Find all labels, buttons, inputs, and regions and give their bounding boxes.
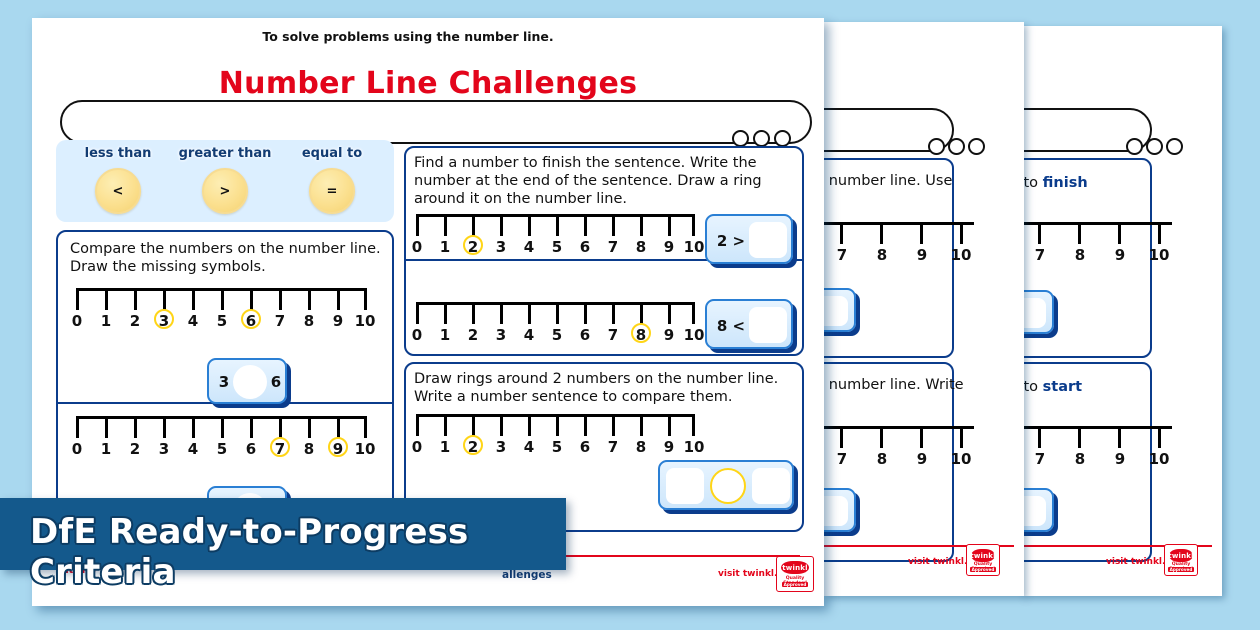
key-item-equal-to: equal to =: [276, 146, 388, 214]
answer-slot[interactable]: [749, 222, 787, 258]
twinkl-logo: twinkl Quality Standard Approved: [776, 556, 814, 592]
key-symbol-equal-to: =: [309, 168, 355, 214]
binder-ring-icon: [928, 138, 945, 155]
page-2-answer-1[interactable]: [824, 288, 856, 332]
answer-right-value: 6: [267, 373, 285, 391]
page-2-answer-2[interactable]: [824, 488, 856, 532]
binder-ring-icon: [774, 130, 791, 147]
right-answer-1[interactable]: 2 >: [705, 214, 793, 264]
page-2-question-1a: he number line. Use: [824, 172, 952, 190]
left-card-question: Compare the numbers on the number line. …: [70, 240, 386, 276]
answer-left-value: 3: [215, 373, 233, 391]
key-label-equal-to: equal to: [276, 146, 388, 161]
answer-slot-right[interactable]: [752, 468, 790, 504]
binder-ring-icon: [948, 138, 965, 155]
objective-text: To solve problems using the number line.: [32, 29, 784, 44]
right-answer-3[interactable]: [658, 460, 794, 510]
binder-ring-icon: [968, 138, 985, 155]
binder-ring-icon: [1166, 138, 1183, 155]
right-card-1-question: Find a number to finish the sentence. Wr…: [414, 154, 796, 208]
page-3-content: er to finish 7 8 9 10 er to start: [1022, 26, 1222, 596]
page-2-question-2: he number line. Write: [824, 376, 964, 394]
objective-bar: [60, 100, 812, 144]
right-answer-2[interactable]: 8 <: [705, 299, 793, 349]
page-2-content: he number line. Use s. 7 8 9 10 he numbe…: [824, 22, 1024, 596]
twinkl-logo: twinkl Quality Standard Approved: [966, 544, 1000, 576]
answer-slot[interactable]: [233, 365, 267, 399]
page-3-answer-2[interactable]: [1022, 488, 1054, 532]
binder-ring-icon: [1146, 138, 1163, 155]
binder-ring-icon: [732, 130, 749, 147]
dfe-banner-text: DfE Ready-to-Progress Criteria: [30, 512, 566, 592]
answer-slot[interactable]: [749, 307, 787, 343]
answer-prompt: 2 >: [713, 232, 749, 250]
left-answer-1[interactable]: 3 6: [207, 358, 287, 404]
dfe-banner: DfE Ready-to-Progress Criteria: [0, 498, 566, 570]
right-card-2-question: Draw rings around 2 numbers on the numbe…: [414, 370, 796, 406]
page-3-question-1: er to finish: [1022, 174, 1088, 192]
twinkl-approved-line: Approved: [777, 582, 813, 587]
answer-slot-left[interactable]: [666, 468, 704, 504]
twinkl-wordmark: twinkl: [781, 561, 809, 574]
answer-slot-symbol[interactable]: [710, 468, 746, 504]
page-3-answer-1[interactable]: [1022, 290, 1054, 334]
worksheet-page-3[interactable]: er to finish 7 8 9 10 er to start: [1022, 26, 1222, 596]
key-symbol-less-than: <: [95, 168, 141, 214]
key-label-greater-than: greater than: [169, 146, 281, 161]
answer-prompt: 8 <: [713, 317, 749, 335]
symbol-key-panel: less than < greater than > equal to =: [56, 140, 394, 222]
key-label-less-than: less than: [62, 146, 174, 161]
binder-ring-icon: [1126, 138, 1143, 155]
key-symbol-greater-than: >: [202, 168, 248, 214]
worksheet-page-2[interactable]: he number line. Use s. 7 8 9 10 he numbe…: [824, 22, 1024, 596]
twinkl-logo: twinkl Quality Standard Approved: [1164, 544, 1198, 576]
page-title: Number Line Challenges: [32, 66, 824, 101]
key-item-greater-than: greater than >: [169, 146, 281, 214]
page-3-question-2: er to start: [1022, 378, 1082, 396]
screenshot-root: er to finish 7 8 9 10 er to start: [0, 0, 1260, 630]
key-item-less-than: less than <: [62, 146, 174, 214]
binder-ring-icon: [753, 130, 770, 147]
